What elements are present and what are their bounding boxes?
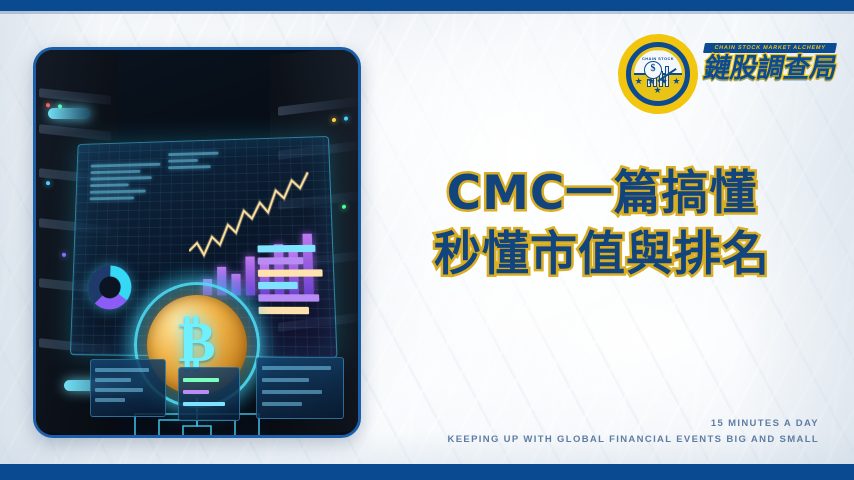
dashboard-text-lines-mid	[168, 152, 219, 169]
brand-emblem-icon: CHAIN STOCK $ ★ ★ ★ ★ ★	[618, 34, 698, 114]
top-brand-bar	[0, 0, 854, 11]
tagline-line-1: 15 MINUTES A DAY	[447, 416, 819, 432]
tagline: 15 MINUTES A DAY KEEPING UP WITH GLOBAL …	[447, 416, 819, 448]
title-line-2: 秒懂市值與排名	[372, 225, 832, 285]
lower-monitor-left	[90, 359, 166, 417]
page-title: CMC一篇搞懂 秒懂市值與排名	[372, 163, 832, 285]
wordmark-chinese: 鏈股調查局	[701, 55, 839, 83]
lower-monitor-right	[256, 357, 344, 419]
tagline-line-2: KEEPING UP WITH GLOBAL FINANCIAL EVENTS …	[447, 432, 819, 448]
emblem-center: CHAIN STOCK $ ★ ★ ★ ★ ★	[631, 47, 685, 101]
bottom-brand-bar	[0, 464, 854, 480]
cover-photo: ₿	[36, 50, 358, 435]
emblem-arc-text: CHAIN STOCK	[631, 56, 685, 61]
rack-accent-glow-top	[48, 108, 90, 119]
brand-logo[interactable]: CHAIN STOCK $ ★ ★ ★ ★ ★ CHAIN STOCK MARK…	[612, 31, 838, 117]
brand-wordmark: CHAIN STOCK MARKET ALCHEMY 鏈股調查局	[704, 43, 836, 83]
lower-monitor-center	[178, 367, 240, 421]
bitcoin-symbol: ₿	[178, 315, 215, 371]
dashboard-text-lines-left	[90, 163, 161, 200]
market-table-rows	[257, 245, 324, 315]
cover-image-card: ₿	[33, 47, 361, 438]
cover-slide: ₿	[0, 0, 854, 480]
wordmark-english: CHAIN STOCK MARKET ALCHEMY	[703, 43, 837, 53]
emblem-stars: ★ ★ ★ ★ ★	[631, 77, 685, 95]
title-line-1: CMC一篇搞懂	[372, 163, 832, 225]
